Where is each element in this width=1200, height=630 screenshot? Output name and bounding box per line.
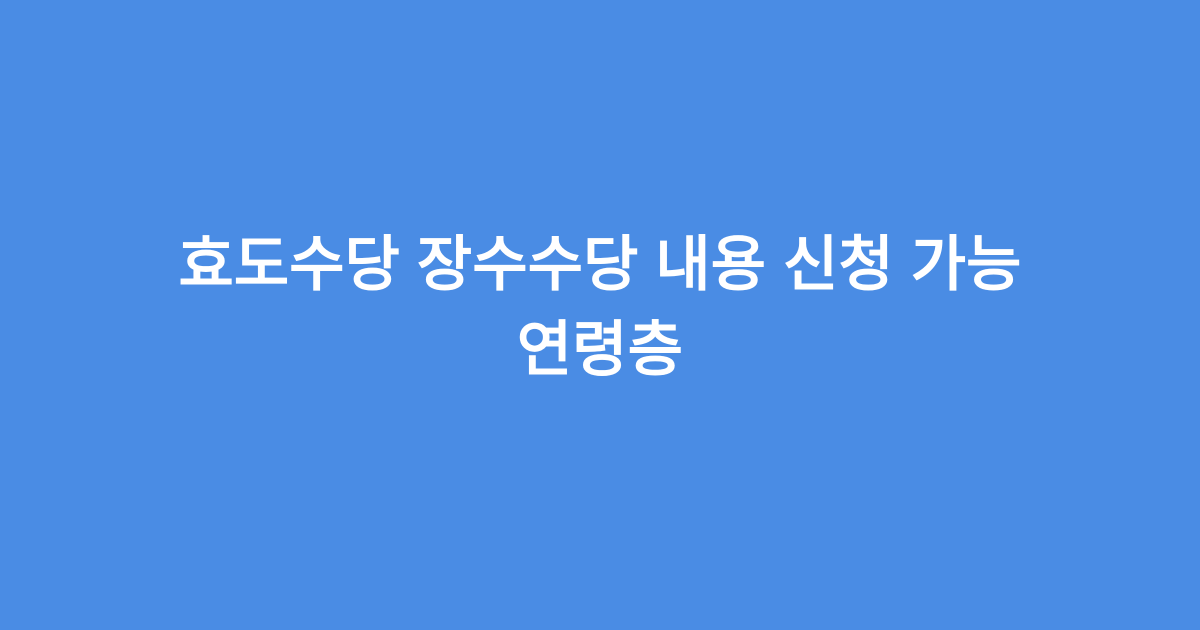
headline-block: 효도수당 장수수당 내용 신청 가능 연령층 <box>120 222 1080 392</box>
page-title: 효도수당 장수수당 내용 신청 가능 연령층 <box>120 222 1080 392</box>
og-banner-card: 효도수당 장수수당 내용 신청 가능 연령층 <box>0 0 1200 630</box>
